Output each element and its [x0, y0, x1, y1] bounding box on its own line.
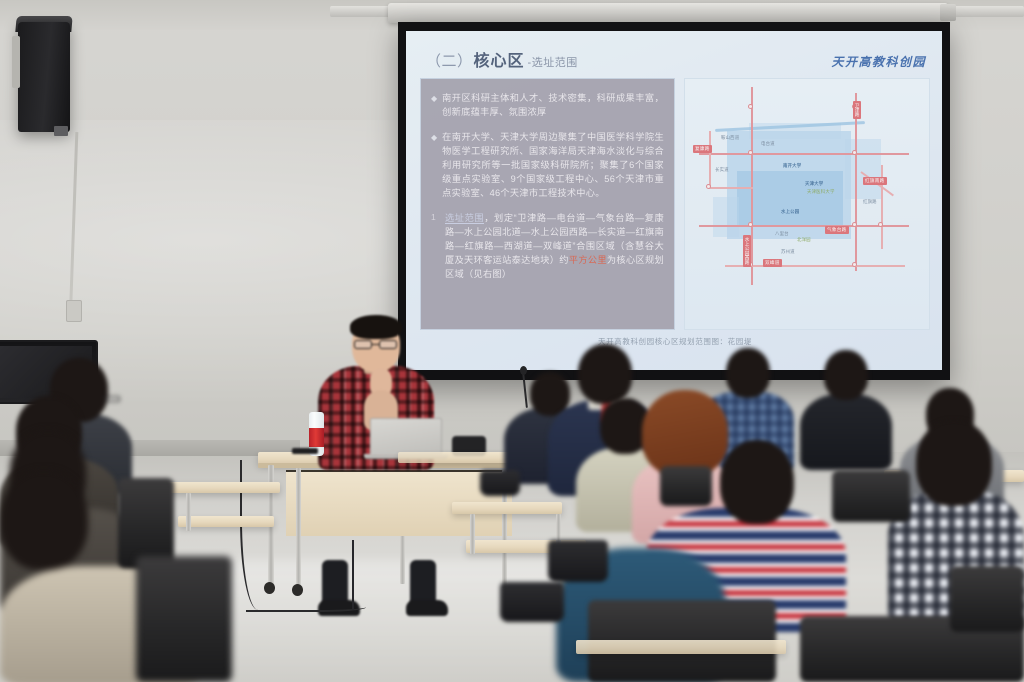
screen-housing-cap — [940, 4, 956, 21]
slide-title: （二） 核心区 -选址范围 — [426, 47, 578, 71]
desk-back-row — [398, 452, 518, 463]
slide-title-number: （二） — [426, 50, 473, 71]
slide-caption: 天开高教科创园核心区规划范围图：花园堤 — [420, 336, 930, 347]
numbered-item-highlight: 平方公里 — [569, 255, 607, 265]
chair-back — [118, 478, 174, 568]
map-tag: 卫津路 — [853, 101, 861, 119]
map-road-weijin — [751, 87, 753, 285]
audience-head — [824, 350, 868, 400]
slide-body: ◆ 南开区科研主体和人才、技术密集，科研成果丰富，创新底蕴丰厚、氛围浓厚 ◆ 在… — [420, 78, 930, 330]
presenter-shoe — [406, 600, 448, 616]
map-tag: 红旗南路 — [863, 177, 887, 185]
slide-title-subtitle: -选址范围 — [528, 54, 578, 70]
map-node — [748, 104, 753, 109]
map-node — [748, 150, 753, 155]
map-tag: 气象台路 — [825, 226, 849, 234]
map-node — [852, 222, 857, 227]
map-area-label: 北洋园 — [797, 237, 811, 243]
wall-speaker-icon — [18, 22, 70, 132]
desk-caster — [292, 584, 303, 596]
map-area-label: 八里台 — [775, 231, 789, 237]
map-node — [706, 184, 711, 189]
chair-back — [950, 566, 1024, 632]
map-area-label: 水上公园 — [781, 209, 799, 215]
screen-roller-housing — [388, 3, 948, 23]
bullet-text: 在南开大学、天津大学周边聚集了中国医学科学院生物医学工程研究所、国家海洋局天津海… — [442, 130, 664, 200]
phone-on-desk — [292, 448, 318, 454]
map-area-label: 天津医科大学 — [807, 189, 835, 195]
bullet-diamond-icon: ◆ — [431, 92, 437, 120]
audience-head — [578, 344, 632, 404]
desk-leg — [296, 468, 301, 586]
map-area-label: 电台道 — [761, 141, 775, 147]
chair-back — [660, 466, 712, 506]
slide-bullet: ◆ 在南开大学、天津大学周边聚集了中国医学科学院生物医学工程研究所、国家海洋局天… — [431, 130, 664, 200]
map-graphic: 复康路 卫津路 气象台路 红旗南路 水上公园西路 双峰道 南开大学 天津大学 水… — [685, 79, 929, 329]
list-number: 1 — [431, 211, 440, 281]
desk-leg — [470, 514, 475, 554]
slide-title-main: 核心区 — [474, 47, 525, 71]
map-tag: 双峰道 — [763, 259, 782, 267]
presentation-slide: （二） 核心区 -选址范围 天开高教科创园 ◆ 南开区科研主体和人才、技术密集，… — [406, 31, 942, 370]
projection-screen-surface: （二） 核心区 -选址范围 天开高教科创园 ◆ 南开区科研主体和人才、技术密集，… — [406, 31, 942, 370]
presenter-hair — [350, 315, 402, 339]
bullet-diamond-icon: ◆ — [431, 131, 437, 201]
speaker-mount-bracket — [12, 36, 20, 88]
numbered-item-text: 选址范围，划定“卫津路—电台道—气象台路—复康路—水上公园北道—水上公园西路—长… — [445, 211, 664, 281]
audience-head — [916, 420, 992, 506]
slide-logo: 天开高教科创园 — [831, 53, 926, 70]
map-node — [852, 262, 857, 267]
map-road-hongqi — [855, 93, 857, 271]
map-area-label: 鞍山西道 — [721, 135, 739, 141]
slide-text-panel: ◆ 南开区科研主体和人才、技术密集，科研成果丰富，创新底蕴丰厚、氛围浓厚 ◆ 在… — [420, 78, 675, 330]
chair-back — [832, 470, 910, 522]
glasses-icon — [354, 340, 398, 349]
map-node — [748, 222, 753, 227]
map-zone-east — [845, 139, 881, 199]
desk-foreground — [576, 640, 786, 654]
projection-screen-frame: （二） 核心区 -选址范围 天开高教科创园 ◆ 南开区科研主体和人才、技术密集，… — [398, 22, 950, 380]
audience-head — [720, 440, 794, 524]
speaker-brand-logo — [54, 126, 68, 136]
bag-on-desk — [500, 582, 564, 622]
map-road-west-vertical — [709, 131, 711, 189]
map-node — [878, 222, 883, 227]
map-tag: 复康路 — [693, 145, 712, 153]
map-zone-west — [713, 197, 739, 237]
map-area-label: 长实道 — [715, 167, 729, 173]
slide-bullet: ◆ 南开区科研主体和人才、技术密集，科研成果丰富，创新底蕴丰厚、氛围浓厚 — [431, 91, 664, 119]
slide-map-panel: 复康路 卫津路 气象台路 红旗南路 水上公园西路 双峰道 南开大学 天津大学 水… — [684, 78, 930, 330]
map-area-label: 南开大学 — [783, 163, 801, 169]
numbered-item-lead: 选址范围 — [445, 213, 484, 224]
desk-center-row — [452, 502, 562, 514]
map-node — [852, 150, 857, 155]
classroom-scene: （二） 核心区 -选址范围 天开高教科创园 ◆ 南开区科研主体和人才、技术密集，… — [0, 0, 1024, 682]
floor-cable — [246, 600, 366, 612]
audience-head — [0, 470, 88, 570]
laptop-lid — [370, 418, 442, 456]
bag-on-chair — [548, 540, 608, 582]
map-area-label: 天津大学 — [805, 181, 823, 187]
map-tag: 水上公园西路 — [743, 235, 751, 267]
bag-on-desk — [480, 470, 520, 496]
map-road-west-branch — [709, 187, 753, 189]
map-area-label: 红旗路 — [863, 199, 877, 205]
map-area-label: 苏州道 — [781, 249, 795, 255]
bottle-label — [309, 428, 324, 447]
bullet-text: 南开区科研主体和人才、技术密集，科研成果丰富，创新底蕴丰厚、氛围浓厚 — [442, 91, 664, 119]
desk-leg — [400, 536, 405, 584]
slide-header: （二） 核心区 -选址范围 天开高教科创园 — [420, 41, 930, 75]
wall-outlet — [66, 300, 82, 322]
floor-cable — [352, 540, 366, 610]
slide-numbered-item: 1 选址范围，划定“卫津路—电台道—气象台路—复康路—水上公园北道—水上公园西路… — [431, 211, 664, 281]
map-road-fukang — [699, 153, 909, 155]
chair-back — [136, 556, 232, 682]
